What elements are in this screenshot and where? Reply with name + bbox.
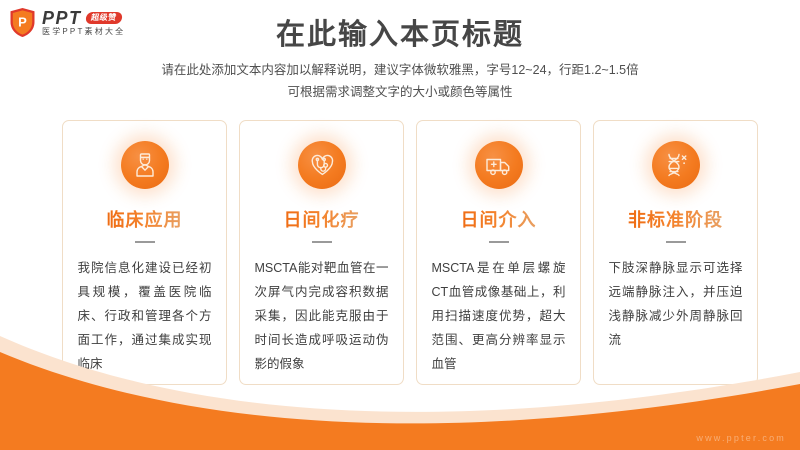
card-item[interactable]: 临床应用 我院信息化建设已经初具规模，覆盖医院临床、行政和管理各个方面工作，通过…	[62, 120, 227, 385]
dna-icon	[652, 141, 700, 189]
card-item[interactable]: 非标准阶段 下肢深静脉显示可选择远端静脉注入，并压迫浅静脉减少外周静脉回流	[593, 120, 758, 385]
title-divider	[666, 241, 686, 243]
page-title: 在此输入本页标题	[0, 11, 800, 53]
slide-canvas: P PPT 超级赞 医学PPT素材大全 在此输入本页标题 请在此处添加文本内容加…	[0, 0, 800, 450]
ambulance-icon	[475, 141, 523, 189]
card-item[interactable]: 日间化疗 MSCTA能对靶血管在一次屏气内完成容积数据采集，因此能克服由于时间长…	[239, 120, 404, 385]
title-divider	[135, 241, 155, 243]
card-list: 临床应用 我院信息化建设已经初具规模，覆盖医院临床、行政和管理各个方面工作，通过…	[62, 120, 758, 385]
subtitle-line-2: 可根据需求调整文字的大小或颜色等属性	[0, 82, 800, 104]
title-divider	[312, 241, 332, 243]
card-body: MSCTA能对靶血管在一次屏气内完成容积数据采集，因此能克服由于时间长造成呼吸运…	[255, 256, 389, 376]
card-title: 临床应用	[107, 206, 183, 232]
subtitle-line-1: 请在此处添加文本内容加以解释说明，建议字体微软雅黑，字号12~24，行距1.2~…	[0, 60, 800, 82]
card-item[interactable]: 日间介入 MSCTA是在单层螺旋CT血管成像基础上，利用扫描速度优势，超大范围、…	[416, 120, 581, 385]
card-title: 日间介入	[461, 206, 537, 232]
doctor-icon	[121, 141, 169, 189]
card-body: 下肢深静脉显示可选择远端静脉注入，并压迫浅静脉减少外周静脉回流	[609, 256, 743, 352]
card-title: 日间化疗	[284, 206, 360, 232]
title-divider	[489, 241, 509, 243]
page-subtitle: 请在此处添加文本内容加以解释说明，建议字体微软雅黑，字号12~24，行距1.2~…	[0, 60, 800, 104]
site-watermark: www.ppter.com	[696, 433, 786, 443]
card-body: 我院信息化建设已经初具规模，覆盖医院临床、行政和管理各个方面工作，通过集成实现临…	[78, 256, 212, 376]
card-body: MSCTA是在单层螺旋CT血管成像基础上，利用扫描速度优势，超大范围、更高分辨率…	[432, 256, 566, 376]
heart-stethoscope-icon	[298, 141, 346, 189]
card-title: 非标准阶段	[628, 206, 723, 232]
